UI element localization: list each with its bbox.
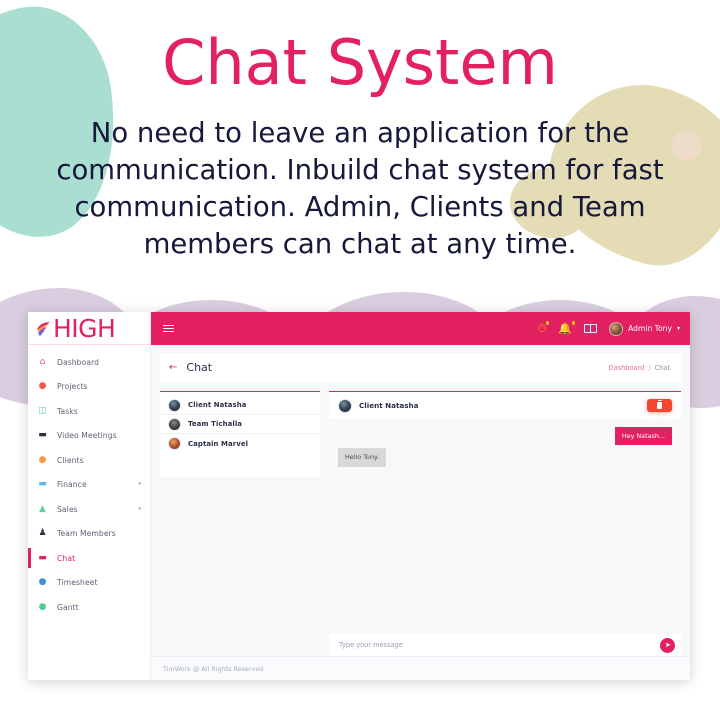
avatar xyxy=(168,437,181,450)
notification-badge xyxy=(572,321,576,325)
sidebar-item-finance[interactable]: ▬ Finance ▾ xyxy=(28,473,150,498)
sidebar-item-label: Projects xyxy=(57,382,88,391)
user-menu[interactable]: Admin Tony ▾ xyxy=(609,322,680,336)
message-input[interactable] xyxy=(339,641,660,649)
sidebar: HIGH ⌂ Dashboard ● Projects ◫ Tasks ▬ Vi… xyxy=(28,312,151,680)
message-row-outgoing: Hey Natash... xyxy=(338,427,672,445)
breadcrumb-dashboard[interactable]: Dashboard xyxy=(609,364,645,372)
app-logo-text: HIGH xyxy=(53,316,115,341)
contact-name: Captain Marvel xyxy=(188,440,248,448)
sidebar-item-label: Timesheet xyxy=(57,578,98,587)
app-window: HIGH ⌂ Dashboard ● Projects ◫ Tasks ▬ Vi… xyxy=(28,312,690,680)
sidebar-item-sales[interactable]: ▲ Sales ▾ xyxy=(28,497,150,522)
bell-icon[interactable]: 🔔 xyxy=(558,323,572,334)
tasks-icon: ◫ xyxy=(36,405,49,417)
chevron-down-icon[interactable]: ▾ xyxy=(138,507,141,512)
sidebar-item-label: Team Members xyxy=(57,529,116,538)
sidebar-item-label: Dashboard xyxy=(57,358,99,367)
finance-icon: ▬ xyxy=(36,479,49,491)
video-camera-icon: ▬ xyxy=(36,430,49,442)
hamburger-icon[interactable] xyxy=(163,325,174,333)
content-page-title: Chat xyxy=(186,361,212,374)
breadcrumb-separator: / xyxy=(648,364,650,372)
message-bubble: Hello Tony. xyxy=(338,448,386,466)
clock-icon: ● xyxy=(36,577,49,589)
list-item[interactable]: Team Tichalla xyxy=(160,415,320,434)
avatar xyxy=(338,399,352,413)
sidebar-item-clients[interactable]: ● Clients xyxy=(28,448,150,473)
avatar xyxy=(168,399,181,412)
chevron-down-icon: ▾ xyxy=(677,325,680,332)
hero-subtitle: No need to leave an application for the … xyxy=(48,115,673,262)
back-arrow-icon[interactable]: ← xyxy=(169,363,177,373)
breadcrumb: Dashboard / Chat xyxy=(609,364,670,372)
stopwatch-badge xyxy=(546,321,550,325)
trash-icon xyxy=(657,402,662,409)
sidebar-item-projects[interactable]: ● Projects xyxy=(28,375,150,400)
message-composer: ➤ xyxy=(329,634,681,656)
message-row-incoming: Hello Tony. xyxy=(338,448,672,466)
list-item[interactable]: Client Natasha xyxy=(160,396,320,415)
sidebar-item-tasks[interactable]: ◫ Tasks xyxy=(28,399,150,424)
home-icon: ⌂ xyxy=(36,356,49,368)
sidebar-item-team-members[interactable]: ♟ Team Members xyxy=(28,522,150,547)
footer-copyright: TimWork @ All Rights Reserved xyxy=(163,665,263,673)
conversation-panel: Client Natasha Hey Natash... Hello Tony. xyxy=(329,391,681,656)
projects-icon: ● xyxy=(36,381,49,393)
gantt-icon: ● xyxy=(36,601,49,613)
clients-icon: ● xyxy=(36,454,49,466)
page-header: ← Chat Dashboard / Chat xyxy=(160,353,681,382)
contacts-list: Client Natasha Team Tichalla Captain Mar… xyxy=(160,391,320,477)
sidebar-item-gantt[interactable]: ● Gantt xyxy=(28,595,150,620)
content-area: ← Chat Dashboard / Chat Client Natasha xyxy=(151,345,690,656)
top-navbar: ⏱ 🔔 Admin Tony ▾ xyxy=(151,312,690,345)
contact-name: Client Natasha xyxy=(188,401,246,409)
list-item[interactable]: Captain Marvel xyxy=(160,434,320,453)
message-list: Hey Natash... Hello Tony. xyxy=(329,419,681,634)
send-message-button[interactable]: ➤ xyxy=(660,638,675,653)
delete-conversation-button[interactable] xyxy=(647,399,672,412)
slide-canvas: Chat System No need to leave an applicat… xyxy=(0,0,720,720)
sidebar-item-label: Sales xyxy=(57,505,78,514)
breadcrumb-current: Chat xyxy=(655,364,670,372)
hero-section: Chat System No need to leave an applicat… xyxy=(0,28,720,263)
cart-icon: ▲ xyxy=(36,503,49,515)
app-logo[interactable]: HIGH xyxy=(28,312,150,345)
page-title: Chat System xyxy=(0,28,720,97)
chat-layout: Client Natasha Team Tichalla Captain Mar… xyxy=(160,391,681,656)
avatar xyxy=(609,322,623,336)
conversation-title: Client Natasha xyxy=(359,401,419,410)
chevron-down-icon[interactable]: ▾ xyxy=(138,482,141,487)
navbar-actions: ⏱ 🔔 Admin Tony ▾ xyxy=(538,322,680,336)
sidebar-item-label: Video Meetings xyxy=(57,431,117,440)
team-icon: ♟ xyxy=(36,528,49,540)
sidebar-item-video-meetings[interactable]: ▬ Video Meetings xyxy=(28,424,150,449)
main-region: ⏱ 🔔 Admin Tony ▾ xyxy=(151,312,690,680)
sidebar-item-timesheet[interactable]: ● Timesheet xyxy=(28,571,150,596)
sidebar-item-label: Gantt xyxy=(57,603,79,612)
sidebar-item-label: Chat xyxy=(57,554,75,563)
user-name: Admin Tony xyxy=(628,324,672,333)
app-footer: TimWork @ All Rights Reserved xyxy=(151,656,690,680)
message-bubble: Hey Natash... xyxy=(615,427,672,445)
sidebar-item-label: Tasks xyxy=(57,407,78,416)
sidebar-item-label: Clients xyxy=(57,456,84,465)
stopwatch-icon[interactable]: ⏱ xyxy=(538,323,547,334)
sidebar-item-label: Finance xyxy=(57,480,87,489)
sidebar-item-dashboard[interactable]: ⌂ Dashboard xyxy=(28,350,150,375)
language-switch-icon[interactable] xyxy=(584,324,597,333)
contact-name: Team Tichalla xyxy=(188,420,242,428)
avatar xyxy=(168,418,181,431)
wing-logo-icon xyxy=(35,320,52,337)
sidebar-item-chat[interactable]: ▬ Chat xyxy=(28,546,150,571)
chat-bubble-icon: ▬ xyxy=(36,552,49,564)
sidebar-nav: ⌂ Dashboard ● Projects ◫ Tasks ▬ Video M… xyxy=(28,345,150,620)
conversation-header: Client Natasha xyxy=(329,392,681,419)
paper-plane-icon: ➤ xyxy=(664,641,670,648)
